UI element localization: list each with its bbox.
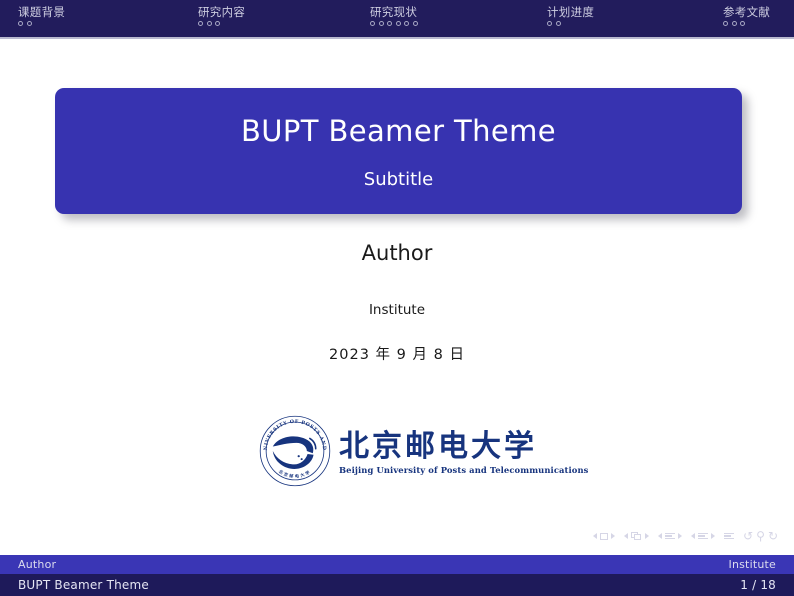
presentation-icon[interactable] xyxy=(724,533,734,540)
next-subsection-icon[interactable] xyxy=(678,533,682,539)
nav-dot[interactable] xyxy=(732,21,737,26)
nav-section-label: 研究现状 xyxy=(370,5,418,19)
nav-section-label: 课题背景 xyxy=(18,5,65,19)
footer-institute: Institute xyxy=(729,558,776,571)
section-icon[interactable] xyxy=(698,533,708,540)
previous-section-icon[interactable] xyxy=(691,533,695,539)
nav-dot[interactable] xyxy=(556,21,561,26)
nav-section-研究现状[interactable]: 研究现状 xyxy=(370,5,418,26)
footer-title-bar: BUPT Beamer Theme 1 / 18 xyxy=(0,574,794,596)
nav-dot[interactable] xyxy=(387,21,392,26)
subsection-icon[interactable] xyxy=(665,533,675,540)
previous-subsection-icon[interactable] xyxy=(658,533,662,539)
back-icon[interactable]: ↺ xyxy=(743,530,753,542)
nav-dot[interactable] xyxy=(740,21,745,26)
bupt-logo: BEIJING UNIVERSITY OF POSTS AND TELECOM … xyxy=(258,414,538,492)
navigation-bar-rule xyxy=(0,37,794,39)
nav-dot[interactable] xyxy=(215,21,220,26)
subsection-navigation-group[interactable] xyxy=(658,533,682,540)
nav-dot[interactable] xyxy=(379,21,384,26)
nav-section-label: 参考文献 xyxy=(723,5,770,19)
footer-presentation-title: BUPT Beamer Theme xyxy=(18,578,149,592)
nav-dot[interactable] xyxy=(370,21,375,26)
institute-name: Institute xyxy=(0,302,794,318)
nav-section-dots[interactable] xyxy=(547,21,594,26)
next-slide-icon[interactable] xyxy=(611,533,615,539)
previous-frame-icon[interactable] xyxy=(624,533,628,539)
search-icon[interactable]: ⚲ xyxy=(756,530,765,542)
nav-section-label: 计划进度 xyxy=(547,5,594,19)
slide-icon[interactable] xyxy=(600,533,608,540)
bupt-logo-text: 北京邮电大学 Beijing University of Posts and T… xyxy=(339,431,589,476)
author-name: Author xyxy=(0,241,794,265)
nav-dot[interactable] xyxy=(723,21,728,26)
frame-icon[interactable] xyxy=(631,532,642,541)
nav-dot[interactable] xyxy=(198,21,203,26)
nav-section-课题背景[interactable]: 课题背景 xyxy=(18,5,65,26)
nav-section-dots[interactable] xyxy=(370,21,418,26)
nav-section-dots[interactable] xyxy=(723,21,770,26)
presentation-date: 2023 年 9 月 8 日 xyxy=(0,343,794,364)
bupt-seal-icon: BEIJING UNIVERSITY OF POSTS AND TELECOM … xyxy=(258,414,332,492)
frame-navigation-group[interactable] xyxy=(624,532,649,541)
nav-section-研究内容[interactable]: 研究内容 xyxy=(198,5,245,26)
title-block: BUPT Beamer Theme Subtitle xyxy=(55,88,742,214)
next-section-icon[interactable] xyxy=(711,533,715,539)
nav-dot[interactable] xyxy=(396,21,401,26)
section-navigation-group[interactable] xyxy=(691,533,715,540)
footer-author: Author xyxy=(18,558,56,571)
nav-dot[interactable] xyxy=(207,21,212,26)
nav-section-参考文献[interactable]: 参考文献 xyxy=(723,5,770,26)
nav-dot[interactable] xyxy=(547,21,552,26)
svg-text:BEIJING UNIVERSITY OF POSTS AN: BEIJING UNIVERSITY OF POSTS AND TELECOM xyxy=(258,414,327,451)
forward-icon[interactable]: ↻ xyxy=(768,530,778,542)
page-title: BUPT Beamer Theme xyxy=(241,114,556,148)
history-group[interactable]: ↺ ⚲ ↻ xyxy=(743,530,778,542)
nav-dot[interactable] xyxy=(18,21,23,26)
nav-section-dots[interactable] xyxy=(18,21,65,26)
previous-slide-icon[interactable] xyxy=(593,533,597,539)
presentation-group[interactable] xyxy=(724,533,734,540)
nav-section-计划进度[interactable]: 计划进度 xyxy=(547,5,594,26)
nav-dot[interactable] xyxy=(413,21,418,26)
nav-dot[interactable] xyxy=(404,21,409,26)
beamer-navigation-symbols[interactable]: ↺ ⚲ ↻ xyxy=(593,530,778,542)
nav-section-dots[interactable] xyxy=(198,21,245,26)
bupt-name-english: Beijing University of Posts and Telecomm… xyxy=(339,465,589,475)
footer-author-bar: Author Institute xyxy=(0,555,794,574)
footer-page-number: 1 / 18 xyxy=(740,578,776,592)
slide-navigation-group[interactable] xyxy=(593,533,615,540)
nav-section-label: 研究内容 xyxy=(198,5,245,19)
next-frame-icon[interactable] xyxy=(645,533,649,539)
bupt-name-chinese: 北京邮电大学 xyxy=(339,431,589,463)
nav-dot[interactable] xyxy=(27,21,32,26)
page-subtitle: Subtitle xyxy=(364,169,433,190)
